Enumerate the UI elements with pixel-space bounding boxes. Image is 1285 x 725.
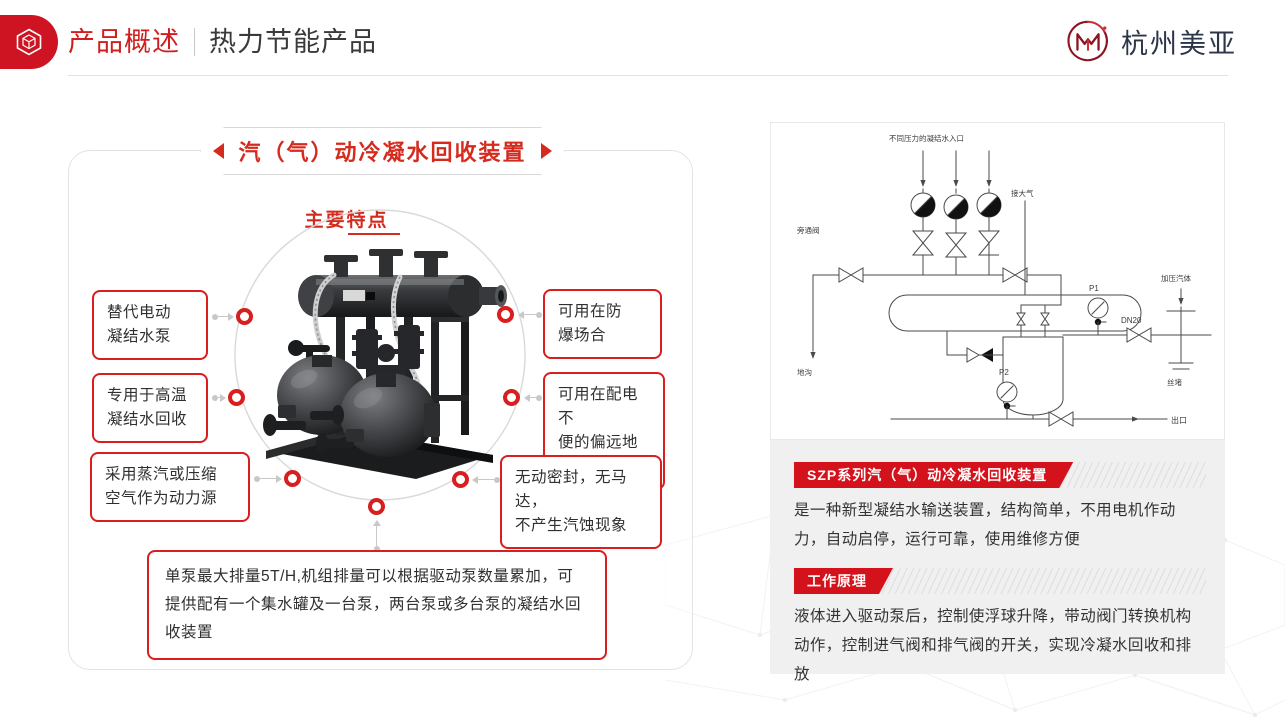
ribbon-title: 汽（气）动冷凝水回收装置 <box>200 127 565 175</box>
connector-l2 <box>212 393 226 402</box>
page-subtitle: 热力节能产品 <box>209 22 377 62</box>
info-section-2-tag-wrap: 工作原理 <box>770 568 1225 594</box>
diagram-label-inlet: 不同压力的凝结水入口 <box>889 133 964 143</box>
connector-line <box>524 314 536 315</box>
feature-text: 无动密封，无马达， 不产生汽蚀现象 <box>515 466 647 538</box>
feature-text: 单泵最大排量5T/H,机组排量可以根据驱动泵数量累加，可提供配有一个集水罐及一台… <box>165 563 589 647</box>
header-rule <box>68 75 1228 76</box>
connector-r1 <box>518 310 542 319</box>
diagram-label-pressurized-gas: 加压汽体 <box>1161 273 1191 283</box>
connector-line <box>376 526 377 546</box>
header-divider <box>194 28 195 56</box>
info-section-2-body: 液体进入驱动泵后，控制使浮球升降，带动阀门转换机构动作，控制进气阀和排气阀的开关… <box>794 602 1200 689</box>
diagram-label-bypass-valve: 旁通阀 <box>797 225 820 235</box>
info-section-1-tag-wrap: SZP系列汽（气）动冷凝水回收装置 <box>770 462 1225 488</box>
diagram-label-p1: P1 <box>1089 284 1099 293</box>
feature-node-r3 <box>452 471 469 488</box>
feature-box-replace-electric-pump[interactable]: 替代电动 凝结水泵 <box>92 290 208 360</box>
connector-arrow-icon <box>276 475 282 483</box>
feature-box-explosion-proof[interactable]: 可用在防 爆场合 <box>543 289 662 359</box>
feature-node-l2 <box>228 389 245 406</box>
connector-r2 <box>524 393 542 402</box>
page-header: 产品概述 热力节能产品 杭州美亚 <box>0 0 1285 84</box>
connector-r3 <box>472 475 500 484</box>
diagram-label-p2: P2 <box>999 368 1009 377</box>
feature-text: 采用蒸汽或压缩 空气作为动力源 <box>105 463 217 511</box>
feature-box-capacity-note[interactable]: 单泵最大排量5T/H,机组排量可以根据驱动泵数量累加，可提供配有一个集水罐及一台… <box>147 550 607 660</box>
connector-line <box>260 478 276 479</box>
cube-hex-icon <box>16 28 42 56</box>
connector-dot <box>536 312 542 318</box>
connector-line <box>218 316 228 317</box>
page-title: 产品概述 <box>68 22 180 62</box>
diagram-label-to-atmosphere: 接大气 <box>1011 188 1034 198</box>
feature-box-steam-or-compressed-air[interactable]: 采用蒸汽或压缩 空气作为动力源 <box>90 452 250 522</box>
connector-dot <box>536 395 542 401</box>
feature-node-bottom <box>368 498 385 515</box>
connector-bottom <box>372 520 381 552</box>
feature-box-no-seal-no-motor[interactable]: 无动密封，无马达， 不产生汽蚀现象 <box>500 455 662 549</box>
product-photo <box>248 243 513 491</box>
connector-l1 <box>212 312 234 321</box>
feature-text: 可用在防 爆场合 <box>558 300 622 348</box>
connector-arrow-icon <box>228 313 234 321</box>
connector-line <box>478 479 494 480</box>
slide-root: 产品概述 热力节能产品 杭州美亚 汽（气）动冷凝水回收装置 主要特点 <box>0 0 1285 725</box>
header-title-group: 产品概述 热力节能产品 <box>68 22 377 62</box>
feature-node-l1 <box>236 308 253 325</box>
right-panel: 不同压力的凝结水入口 <box>770 122 1225 674</box>
diagram-label-plug: 丝堵 <box>1167 377 1183 387</box>
feature-node-r1 <box>497 306 514 323</box>
brand-name: 杭州美亚 <box>1121 22 1237 61</box>
connector-l3 <box>254 474 282 483</box>
brand-lockup: 杭州美亚 <box>1065 18 1237 64</box>
process-diagram-card: 不同压力的凝结水入口 <box>770 122 1225 440</box>
info-card: SZP系列汽（气）动冷凝水回收装置 是一种新型凝结水输送装置，结构简单，不用电机… <box>770 440 1225 674</box>
process-flow-diagram: 不同压力的凝结水入口 <box>771 123 1226 441</box>
feature-text: 替代电动 凝结水泵 <box>107 301 171 349</box>
feature-text: 专用于高温 凝结水回收 <box>107 384 187 432</box>
feature-node-r2 <box>503 389 520 406</box>
meiya-m-logo-icon <box>1065 18 1111 64</box>
diagram-label-dn20: DN20 <box>1121 316 1142 325</box>
feature-node-l3 <box>284 470 301 487</box>
feature-box-high-temperature[interactable]: 专用于高温 凝结水回收 <box>92 373 208 443</box>
diagram-label-outlet: 出口 <box>1171 415 1187 425</box>
features-heading: 主要特点 <box>0 205 693 232</box>
connector-arrow-icon <box>220 394 226 402</box>
info-section-1-tag: SZP系列汽（气）动冷凝水回收装置 <box>794 462 1073 488</box>
features-heading-underline <box>348 233 400 235</box>
ribbon-title-text: 汽（气）动冷凝水回收装置 <box>200 127 565 175</box>
info-section-2-tag: 工作原理 <box>794 568 893 594</box>
header-badge <box>0 15 58 69</box>
diagram-label-drain-trench: 地沟 <box>797 367 812 377</box>
info-section-1-body: 是一种新型凝结水输送装置，结构简单，不用电机作动力，自动启停，运行可靠，使用维修… <box>794 496 1200 554</box>
